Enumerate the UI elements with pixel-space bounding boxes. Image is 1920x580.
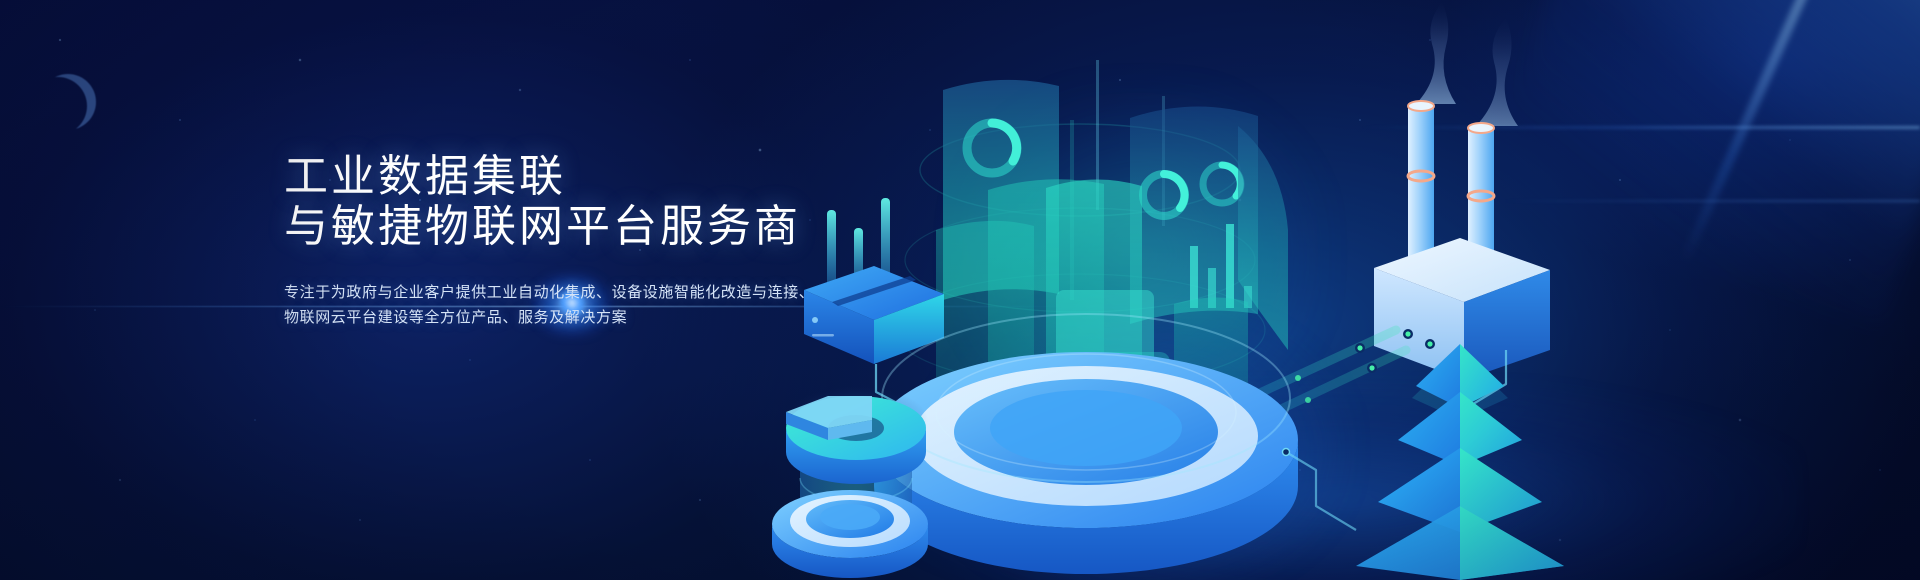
small-disc-platform xyxy=(772,490,928,578)
pie-chart-3d xyxy=(786,396,926,484)
crescent-moon-icon xyxy=(40,74,96,130)
step-pyramid xyxy=(1356,344,1564,580)
hero-banner: 工业数据集联 与敏捷物联网平台服务商 专注于为政府与企业客户提供工业自动化集成、… xyxy=(0,0,1920,580)
headline-line-1: 工业数据集联 xyxy=(284,152,566,201)
iot-industry-illustration xyxy=(760,0,1920,580)
